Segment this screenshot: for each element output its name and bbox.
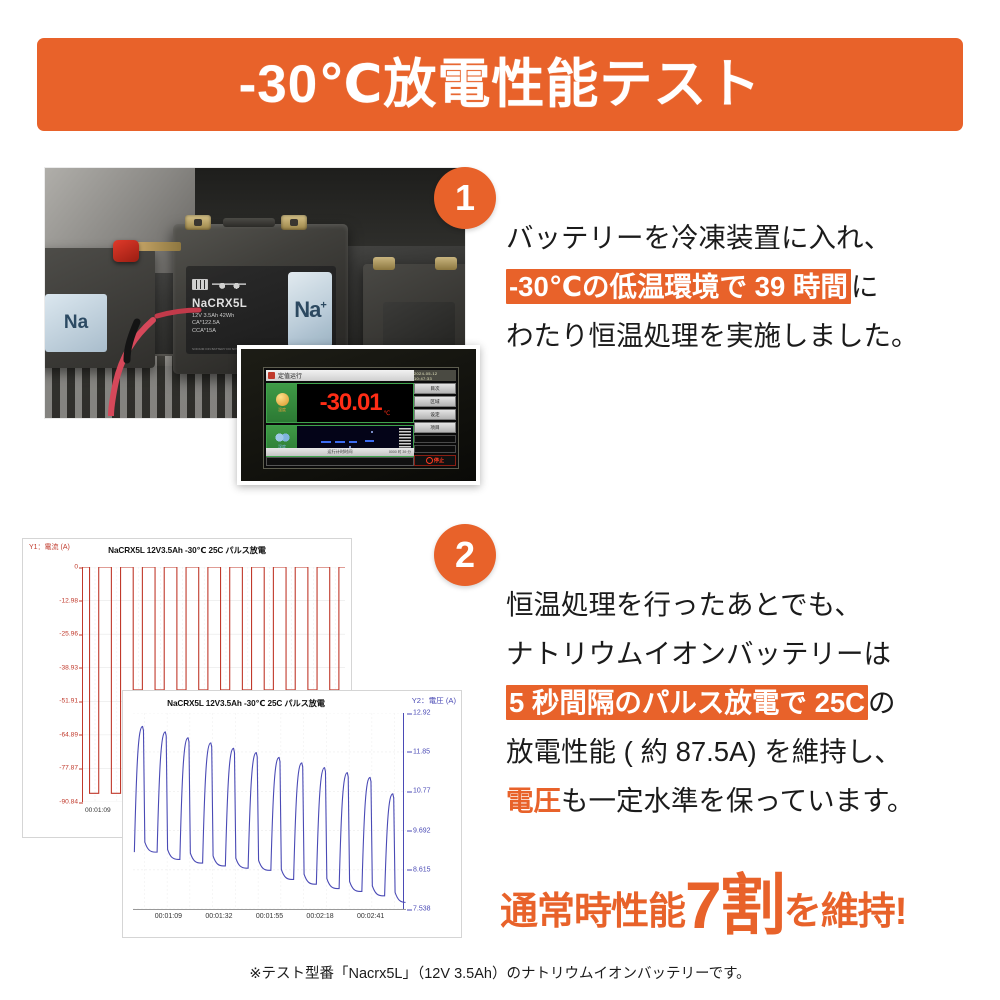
right-battery-label	[383, 302, 455, 348]
hmi-temperature-row: 温度 -30.01 ℃	[266, 383, 414, 423]
trend-dot	[371, 431, 373, 433]
voltage-x-tick: 00:01:09	[155, 913, 182, 920]
current-y-tick: -64.89	[59, 731, 78, 738]
battery-spec-text: 12V 3.5Ah 42Wh CA*122.5A CCA*15A	[192, 313, 234, 335]
motorcycle-icon	[212, 278, 246, 291]
hmi-side-blank	[414, 435, 456, 443]
hmi-side-button-0[interactable]: 目次	[414, 383, 456, 394]
power-ring-icon	[426, 457, 433, 464]
page-title: -30℃放電性能テスト	[239, 58, 762, 111]
current-y-tick: -51.91	[59, 698, 78, 705]
hmi-stop-label: 停止	[434, 457, 444, 464]
voltage-x-tick: 00:02:41	[357, 913, 384, 920]
voltage-x-tick: 00:01:32	[205, 913, 232, 920]
na-badge-text: Na+	[294, 297, 326, 323]
hmi-side-button-1[interactable]: 区域	[414, 396, 456, 407]
voltage-x-tick-group: 00:01:0900:01:3200:01:5500:02:1800:02:41	[133, 913, 406, 927]
battery-label: NaCRX5L 12V 3.5Ah 42Wh CA*122.5A CCA*15A…	[186, 266, 336, 354]
left-battery-na-label: Na	[45, 294, 107, 352]
hmi-window-title: 定值运行	[278, 371, 302, 380]
main-battery-terminal-right	[281, 215, 307, 230]
step-1-line-2-tail: に	[851, 271, 879, 302]
hmi-clock: 2024-05-12 10:47:33	[414, 370, 456, 381]
voltage-y-tick: 11.85	[413, 748, 430, 755]
current-y-tick-group: 0-12.98-25.96-38.93-51.91-64.89-77.87-90…	[23, 567, 82, 802]
step-2-highlight: 5 秒間隔のパルス放電で 25C	[506, 685, 868, 720]
step-2-line-3-tail: の	[868, 687, 896, 718]
step-badge-2: 2	[434, 524, 496, 586]
voltage-y-tick: 9.692	[413, 827, 431, 834]
step-2-text: 恒温処理を行ったあとでも、 ナトリウムイオンバッテリーは 5 秒間隔のパルス放電…	[506, 580, 976, 825]
step-1-highlight: -30℃の低温環境で 39 時間	[506, 269, 851, 304]
red-cable-clamp	[113, 240, 139, 262]
voltage-y-tick: 7.538	[413, 906, 431, 913]
temperature-unit: ℃	[384, 410, 391, 422]
step-1-text: バッテリーを冷凍装置に入れ、 -30℃の低温環境で 39 時間に わたり恒温処理…	[506, 213, 976, 360]
temperature-icon: 温度	[267, 384, 297, 422]
headline-big: 7割	[685, 874, 784, 937]
hmi-side-button-column: 目次 区域 设定 项目 停止	[414, 383, 456, 466]
step-2-line-3: 5 秒間隔のパルス放電で 25Cの	[506, 678, 976, 727]
hmi-stop-button[interactable]: 停止	[414, 455, 456, 466]
voltage-y-tick: 8.615	[413, 866, 431, 873]
step-1-line-3: わたり恒温処理を実施しました。	[506, 311, 976, 360]
battery-handle	[223, 218, 275, 227]
step-2-line-5-tail: も一定水準を保っています。	[561, 785, 914, 816]
voltage-pulse-chart: NaCRX5L 12V3.5Ah -30℃ 25C パルス放電 Y2：電圧 (A…	[122, 690, 462, 938]
current-x-tick-label: 00:01:09	[85, 807, 111, 814]
bottom-headline: 通常時性能 7割 を維持!	[500, 870, 980, 938]
step-1-line-1: バッテリーを冷凍装置に入れ、	[506, 213, 976, 262]
trend-dash	[365, 440, 374, 442]
trend-dash	[321, 441, 331, 443]
voltage-x-axis-line	[133, 909, 406, 910]
voltage-x-tick: 00:01:55	[256, 913, 283, 920]
current-y-tick: -25.96	[59, 631, 78, 638]
voltage-emphasis: 電圧	[506, 785, 561, 816]
hmi-status-bar: 运行计时时间 0000 时 39 分	[266, 448, 414, 456]
caution-icon	[192, 279, 208, 290]
battery-terminal-right	[435, 257, 457, 270]
terminal-clamp-jaw	[133, 242, 181, 251]
battery-warning-icons	[192, 278, 246, 291]
current-y-tick: -90.84	[59, 799, 78, 806]
main-battery-terminal-left	[185, 215, 211, 230]
step-2-line-5: 電圧も一定水準を保っています。	[506, 776, 976, 825]
fan-icon	[275, 432, 290, 443]
current-y-tick: 0	[74, 564, 78, 571]
hmi-status-time: 0000 时 39 分	[389, 450, 411, 455]
voltage-series-line	[134, 726, 405, 902]
temperature-controller-photo: 定值运行 2024-05-12 10:47:33 温度 -30.01 ℃ 湿度	[237, 345, 480, 485]
step-badge-1: 1	[434, 167, 496, 229]
temperature-value: -30.01	[320, 389, 382, 417]
voltage-y-tick: 12.92	[413, 710, 431, 717]
voltage-plot-area	[133, 713, 406, 909]
thermometer-bulb-icon	[276, 393, 289, 406]
hmi-side-button-2[interactable]: 设定	[414, 409, 456, 420]
voltage-y-tick: 10.77	[413, 788, 431, 795]
temperature-readout: -30.01 ℃	[297, 384, 413, 422]
hmi-bottom-bar	[266, 457, 414, 466]
voltage-x-tick: 00:02:18	[306, 913, 333, 920]
secondary-battery-left: Na	[45, 248, 155, 368]
current-y-tick: -12.98	[59, 597, 78, 604]
headline-suffix: を維持!	[784, 880, 907, 935]
trend-dash	[335, 441, 345, 443]
title-banner: -30℃放電性能テスト	[37, 38, 963, 131]
step-2-line-1: 恒温処理を行ったあとでも、	[506, 580, 976, 629]
current-y-tick: -77.87	[59, 765, 78, 772]
current-y-tick: -38.93	[59, 664, 78, 671]
hmi-side-blank	[414, 445, 456, 453]
hmi-title-bar: 定值运行	[266, 370, 414, 381]
infographic-page: -30℃放電性能テスト Na NaCRX5L 12V	[0, 0, 1000, 1000]
voltage-axis-label: Y2：電圧 (A)	[412, 695, 456, 706]
hmi-side-button-3[interactable]: 项目	[414, 422, 456, 433]
sodium-ion-badge: Na+	[288, 272, 332, 348]
headline-prefix: 通常時性能	[500, 880, 685, 935]
voltage-y-tick-group: 12.9211.8510.779.6928.6157.538	[404, 713, 461, 909]
hmi-status-text: 运行计时时间	[327, 449, 352, 455]
footnote: ※テスト型番「Nacrx5L」（12V 3.5Ah）のナトリウムイオンバッテリー…	[0, 962, 1000, 983]
voltage-chart-title: NaCRX5L 12V3.5Ah -30℃ 25C パルス放電	[123, 697, 369, 709]
trend-dash	[349, 441, 357, 443]
step-2-line-2: ナトリウムイオンバッテリーは	[506, 629, 976, 678]
battery-terminal-left	[373, 257, 395, 270]
temperature-icon-label: 温度	[278, 407, 286, 413]
hmi-app-icon	[268, 372, 275, 379]
step-2-line-4: 放電性能 ( 約 87.5A) を維持し、	[506, 727, 976, 776]
battery-model-text: NaCRX5L	[192, 298, 247, 310]
step-1-line-2: -30℃の低温環境で 39 時間に	[506, 262, 976, 311]
current-chart-title: NaCRX5L 12V3.5Ah -30℃ 25C パルス放電	[23, 544, 351, 556]
current-axis-label: Y1：電流 (A)	[29, 542, 70, 552]
controller-hmi-screen: 定值运行 2024-05-12 10:47:33 温度 -30.01 ℃ 湿度	[263, 367, 459, 469]
